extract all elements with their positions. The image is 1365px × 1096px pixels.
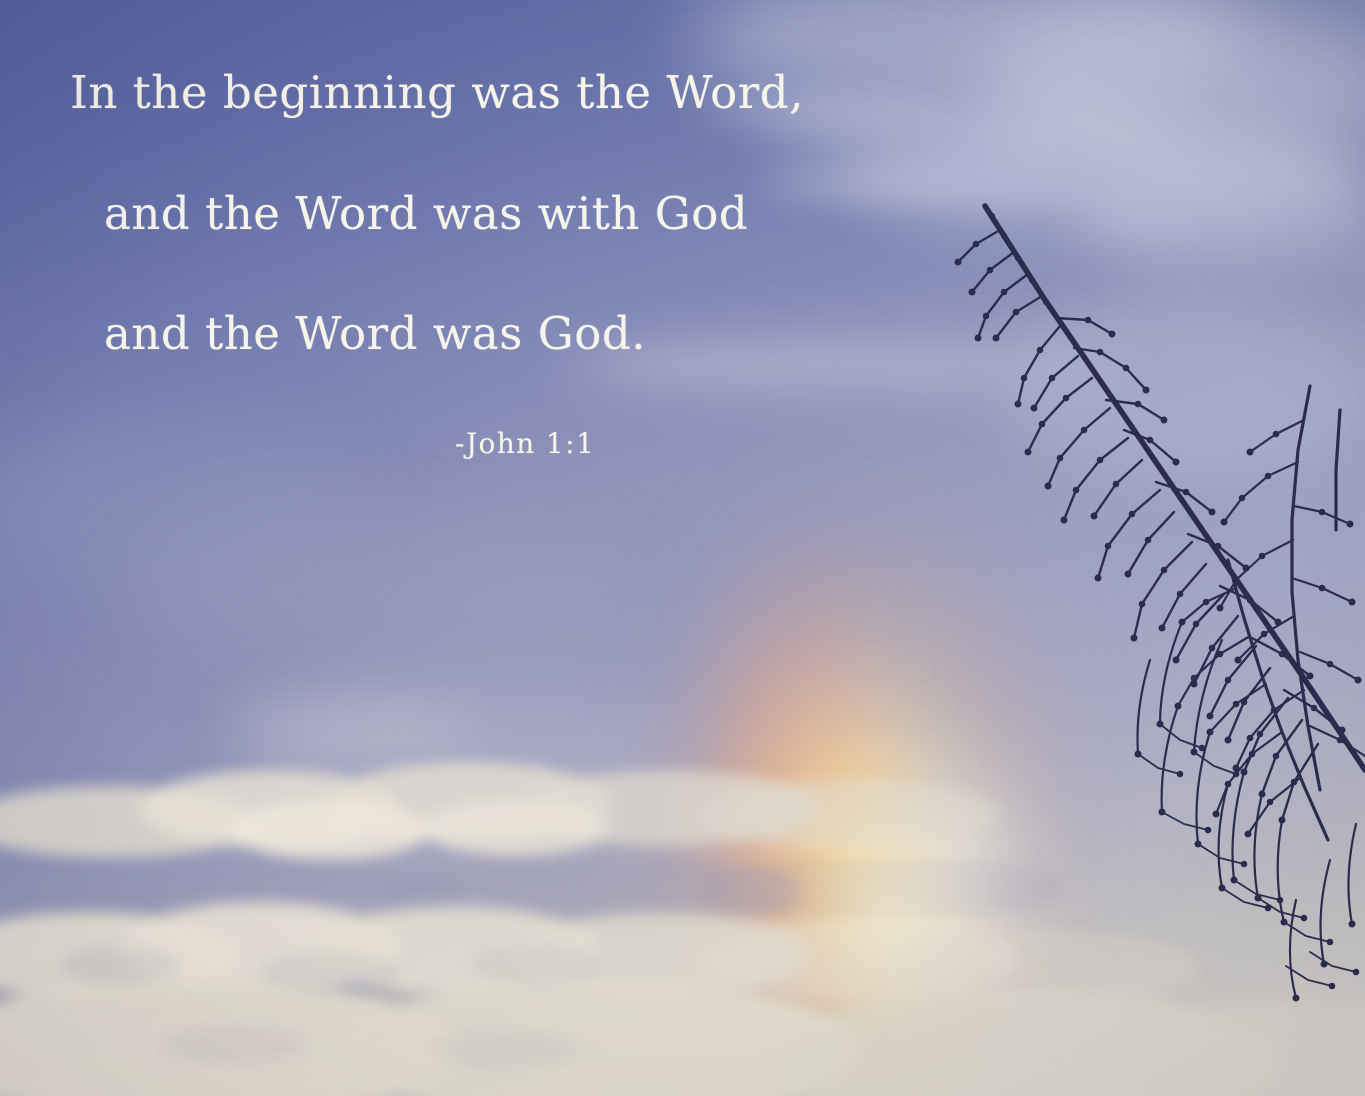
verse-line-3: and the Word was God. (104, 307, 646, 360)
verse-line-2: and the Word was with God (104, 187, 748, 240)
sky-photograph: In the beginning was the Word, and the W… (0, 0, 1365, 1096)
bible-verse-overlay: In the beginning was the Word, and the W… (0, 0, 1365, 1096)
verse-attribution: -John 1:1 (455, 427, 595, 460)
verse-line-1: In the beginning was the Word, (70, 66, 804, 119)
